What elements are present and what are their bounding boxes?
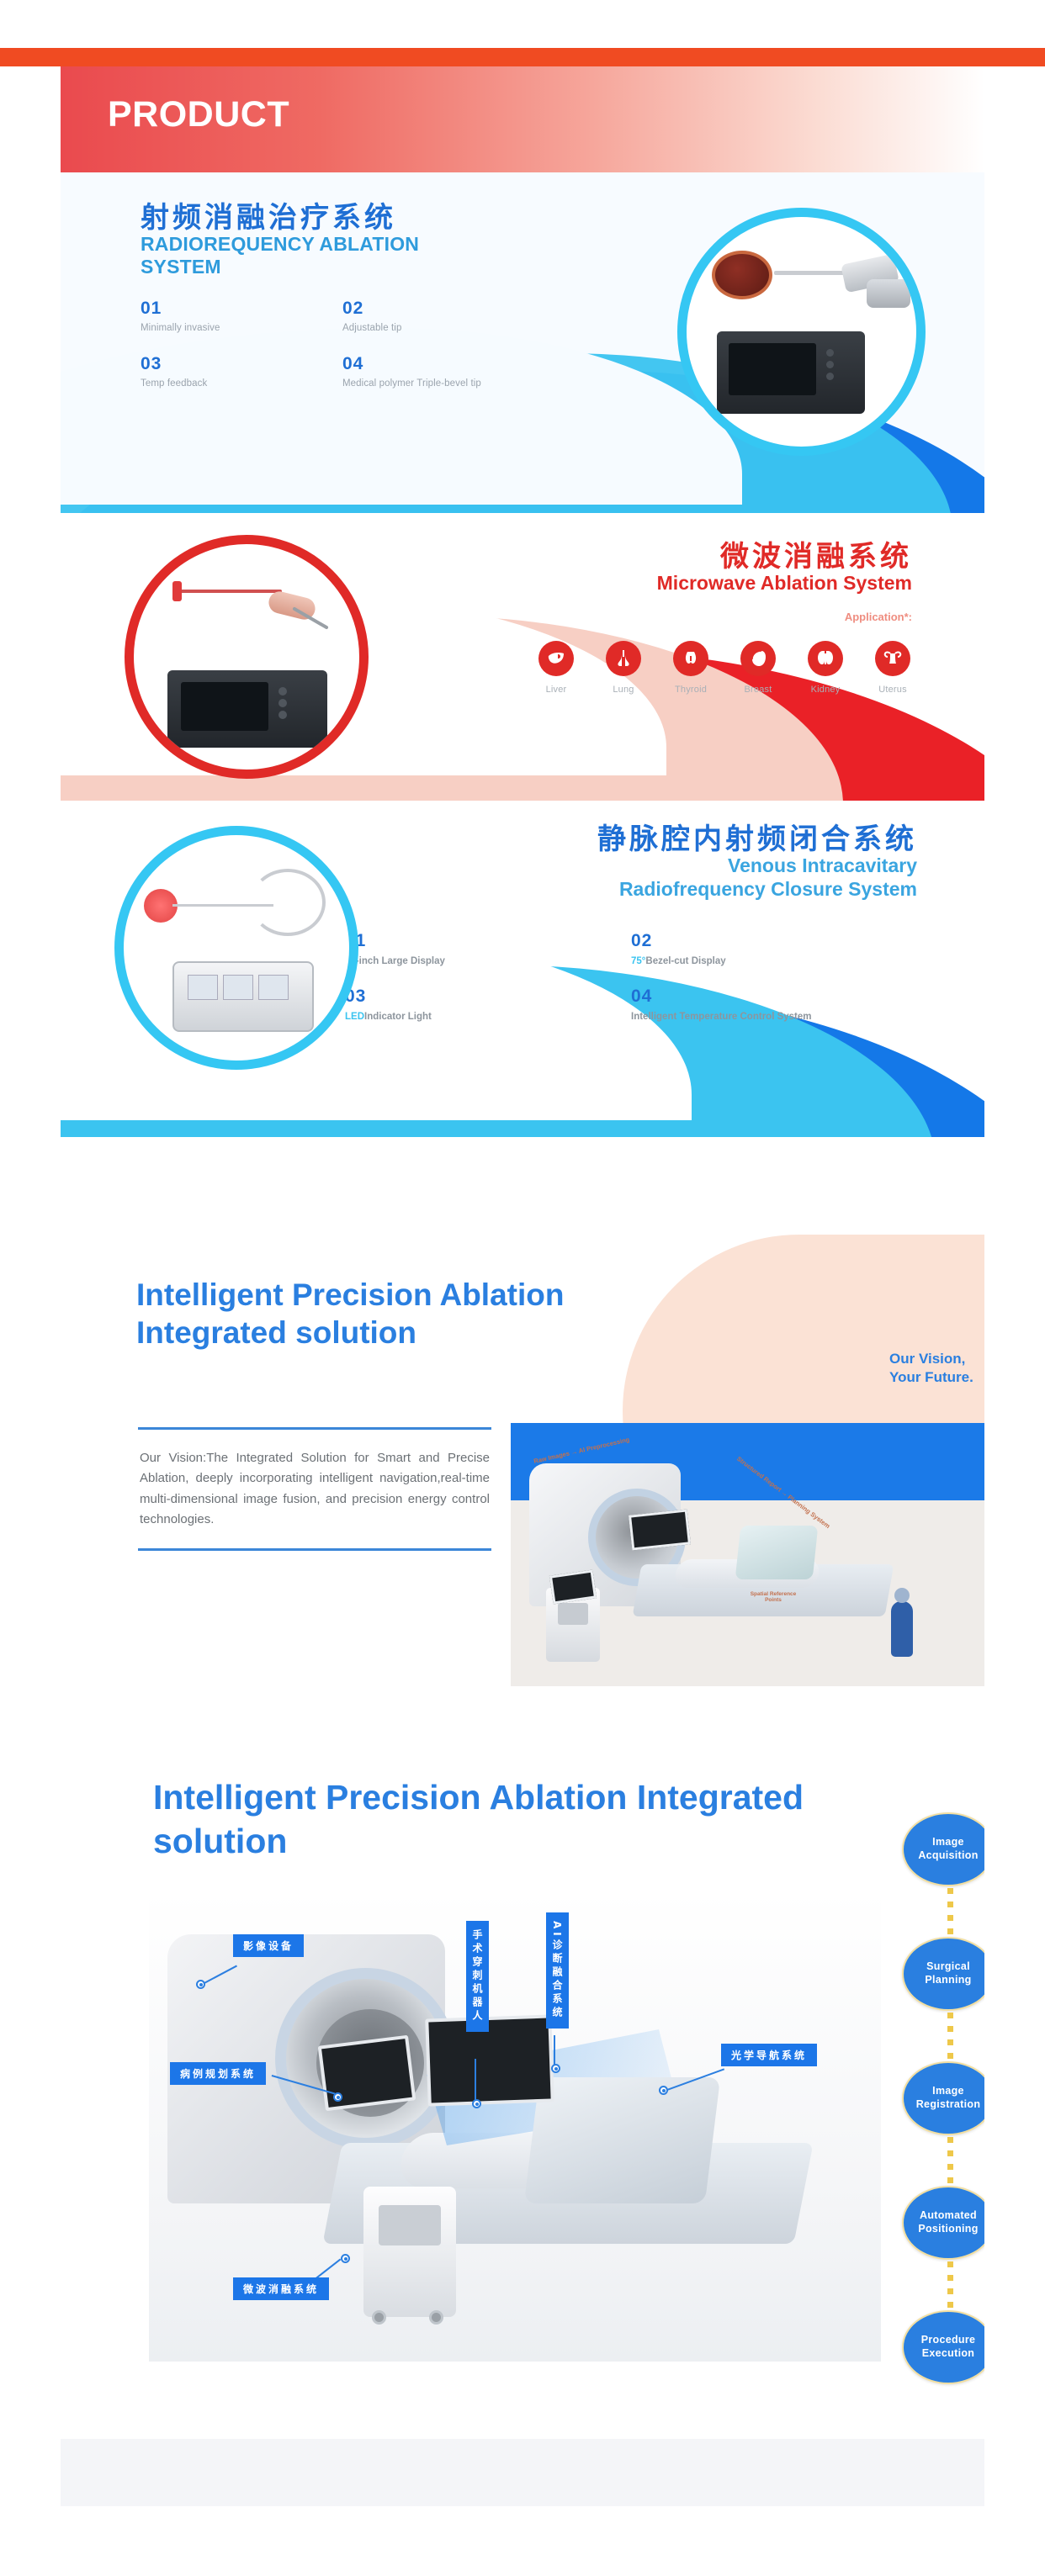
lung-icon [606,641,641,676]
organ-application-list: Liver Lung Thyroid [532,641,917,695]
feature-number: 03 [345,986,631,1007]
feature-text: 10-inch Large Display [345,956,631,966]
vision-heading: Intelligent Precision Ablation Integrate… [136,1276,692,1351]
connector-dots [947,2261,953,2309]
feature-rest: -inch Large Display [356,956,445,966]
venous-chinese-title: 静脉腔内射频闭合系统 [597,816,917,857]
feature-text: Minimally invasive [141,323,342,333]
feature-highlight: 75° [631,956,645,966]
venous-english-title: Venous Intracavitary Radiofrequency Clos… [446,854,917,901]
label-ai-diagnosis: AI诊断融合系统 [546,1912,569,2029]
node-case-planning [333,2092,342,2102]
annotation-spatial-reference: Spatial Reference Points [748,1591,798,1603]
tagline-line2: Your Future. [889,1368,984,1387]
product-header-band: PRODUCT [61,66,984,172]
connector-dots [947,2137,953,2184]
organ-item-kidney: Kidney [801,641,850,695]
top-orange-bar [0,48,1045,66]
venous-feature-item: 01 10-inch Large Display [345,931,631,966]
organ-item-thyroid: Thyroid [666,641,715,695]
rf-english-title: RADIOREQUENCY ABLATION SYSTEM [141,233,494,278]
section-microwave-ablation: 微波消融系统 Microwave Ablation System Applica… [61,515,984,801]
organ-name: Thyroid [666,685,715,695]
tagline-line1: Our Vision, [889,1350,984,1368]
workflow-step[interactable]: Image Acquisition [902,1812,984,1937]
workflow-step-label: Procedure Execution [902,2310,984,2384]
workflow-step[interactable]: Automated Positioning [902,2186,984,2310]
workflow-step[interactable]: Surgical Planning [902,1937,984,2061]
section-vision: Intelligent Precision Ablation Integrate… [61,1228,984,1749]
feature-number: 04 [631,986,917,1007]
workflow-step[interactable]: Procedure Execution [902,2310,984,2422]
feature-text: Intelligent Temperature Control System [631,1012,917,1022]
workflow-step-label: Image Registration [902,2061,984,2135]
thyroid-icon [673,641,708,676]
feature-number: 02 [631,931,917,951]
venous-title-line1: Venous Intracavitary [446,854,917,878]
workflow-step[interactable]: Image Registration [902,2061,984,2186]
venous-feature-item: 02 75°Bezel-cut Display [631,931,917,966]
venous-feature-item: 04 Intelligent Temperature Control Syste… [631,986,917,1022]
node-surgical-robot [472,2099,481,2108]
node-optical-navigation [659,2086,668,2095]
label-case-planning: 病例规划系统 [170,2062,266,2085]
venous-product-photo [114,826,358,1070]
organ-name: Kidney [801,685,850,695]
feature-rest: Bezel-cut Display [645,956,725,966]
node-microwave-ablation [341,2254,350,2263]
label-optical-navigation: 光学导航系统 [721,2044,817,2066]
solution-heading: Intelligent Precision Ablation Integrate… [153,1776,843,1863]
microwave-english-title: Microwave Ablation System [657,572,912,595]
monitor-left [318,2035,416,2112]
organ-item-liver: Liver [532,641,581,695]
rf-feature-item: 04 Medical polymer Triple-bevel tip [342,354,544,389]
organ-name: Breast [734,685,782,695]
rf-feature-item: 03 Temp feedback [141,354,342,389]
section-venous-closure: 静脉腔内射频闭合系统 Venous Intracavitary Radiofre… [61,801,984,1137]
vision-paragraph: Our Vision:The Integrated Solution for S… [138,1430,491,1548]
feature-number: 02 [342,299,544,319]
microwave-chinese-title: 微波消融系统 [720,533,912,574]
label-imaging-equipment: 影像设备 [233,1934,304,1957]
feature-rest: Intelligent Temperature Control System [631,1012,812,1022]
organ-name: Uterus [868,685,917,695]
workflow-step-label: Surgical Planning [902,1937,984,2011]
liver-icon [538,641,574,676]
connector-dots [947,2013,953,2060]
organ-item-lung: Lung [599,641,648,695]
organ-name: Lung [599,685,648,695]
workflow-step-label: Automated Positioning [902,2186,984,2260]
venous-feature-grid: 01 10-inch Large Display 02 75°Bezel-cut… [345,931,917,1042]
feature-number: 04 [342,354,544,374]
vision-paragraph-box: Our Vision:The Integrated Solution for S… [138,1427,491,1551]
feature-number: 03 [141,354,342,374]
leader-line [475,2059,477,2101]
workflow-step-label: Image Acquisition [902,1812,984,1886]
leader-line [554,2035,556,2066]
cart-screen [379,2205,441,2245]
product-brochure-page: PRODUCT 射频消融治疗系统 RADIOREQUENCY ABLATION … [0,0,1045,2576]
rf-feature-item: 01 Minimally invasive [141,299,342,333]
breast-icon [740,641,776,676]
feature-rest: Indicator Light [364,1012,432,1022]
feature-text: 75°Bezel-cut Display [631,956,917,966]
rf-chinese-title: 射频消融治疗系统 [141,194,396,235]
rf-feature-item: 02 Adjustable tip [342,299,544,333]
rf-feature-grid: 01 Minimally invasive 02 Adjustable tip … [141,299,544,410]
cart-wheel [372,2310,386,2325]
connector-dots [947,1888,953,1935]
venous-title-line2: Radiofrequency Closure System [446,878,917,902]
kidney-icon [808,641,843,676]
organ-item-uterus: Uterus [868,641,917,695]
uterus-icon [875,641,910,676]
venous-feature-item: 03 LEDIndicator Light [345,986,631,1022]
organ-name: Liver [532,685,581,695]
ablation-cart [363,2187,456,2317]
node-imaging-equipment [196,1980,205,1989]
organ-item-breast: Breast [734,641,782,695]
feature-text: Temp feedback [141,378,342,389]
label-surgical-robot: 手术穿刺机器人 [466,1921,489,2032]
monitor-right [425,2014,554,2106]
footer-strip [61,2439,984,2506]
section-integrated-solution: Intelligent Precision Ablation Integrate… [61,1749,984,2422]
vision-illustration: Raw Images → AI Preprocessing Structured… [511,1423,984,1686]
cart-wheel [429,2310,443,2325]
workflow-column: Image Acquisition Surgical Planning Imag… [902,1812,984,2422]
feature-text: Adjustable tip [342,323,544,333]
solution-diagram: 影像设备 手术穿刺机器人 AI诊断融合系统 病例规划系统 光学导航系统 微波消融… [149,1891,881,2362]
vision-tagline: Our Vision, Your Future. [889,1350,984,1387]
rf-product-photo [677,208,926,456]
divider-bottom [138,1548,491,1551]
feature-text: LEDIndicator Light [345,1012,631,1022]
label-microwave-ablation: 微波消融系统 [233,2277,329,2300]
feature-number: 01 [345,931,631,951]
node-ai-diagnosis [551,2064,560,2073]
section-rf-ablation: 射频消融治疗系统 RADIOREQUENCY ABLATION SYSTEM 0… [61,172,984,513]
feature-highlight: LED [345,1012,364,1022]
application-label: Application*: [845,611,912,623]
microwave-product-photo [125,535,369,779]
feature-text: Medical polymer Triple-bevel tip [342,378,544,389]
feature-number: 01 [141,299,342,319]
page-title: PRODUCT [108,94,289,135]
